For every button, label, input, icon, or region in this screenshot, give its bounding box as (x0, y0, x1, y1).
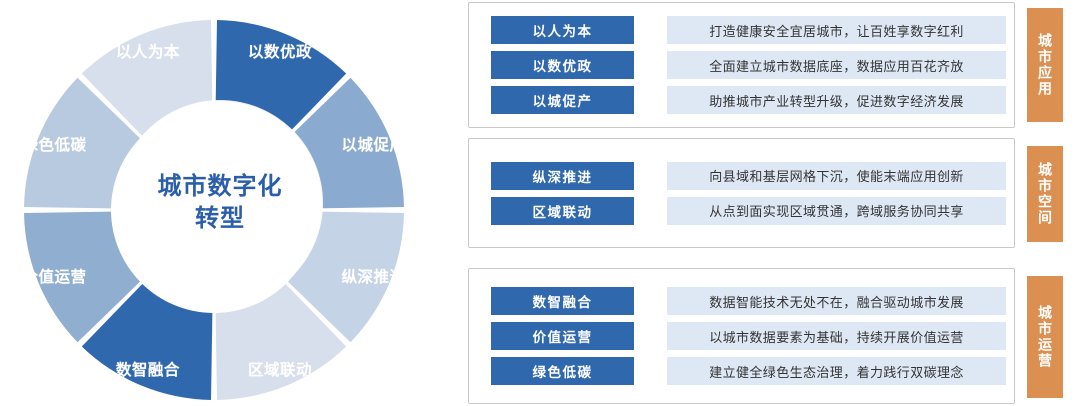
row-label-chip[interactable]: 以数优政 (491, 51, 634, 79)
panel-row-list: 数智融合数据智能技术无处不在，融合驱动城市发展价值运营以城市数据要素为基础，持续… (491, 269, 1006, 403)
donut-segment-label: 纵深推进 (341, 265, 405, 287)
row-label-chip[interactable]: 区域联动 (491, 197, 634, 225)
row-label-chip[interactable]: 价值运营 (491, 322, 634, 350)
row-label-chip[interactable]: 以城促产 (491, 86, 634, 114)
row-description: 数据智能技术无处不在，融合驱动城市发展 (667, 287, 1006, 315)
panel-category-tab[interactable]: 城市空间 (1027, 146, 1063, 242)
slide-root: 以数优政以城促产纵深推进区域联动数智融合价值运营绿色低碳以人为本 城市数字化 转… (0, 0, 1080, 406)
donut-segment-label: 绿色低碳 (23, 133, 87, 155)
row-description: 从点到面实现区域贯通，跨域服务协同共享 (667, 197, 1006, 225)
row-description: 向县域和基层网格下沉，使能末端应用创新 (667, 162, 1006, 190)
donut-segment-label: 以人为本 (116, 40, 180, 62)
panel-row: 区域联动从点到面实现区域贯通，跨域服务协同共享 (491, 197, 1006, 225)
panel-row: 以城促产助推城市产业转型升级，促进数字经济发展 (491, 86, 1006, 114)
row-label-chip[interactable]: 绿色低碳 (491, 357, 634, 385)
panel-row: 绿色低碳建立健全绿色生态治理，着力践行双碳理念 (491, 357, 1006, 385)
panel-row: 价值运营以城市数据要素为基础，持续开展价值运营 (491, 322, 1006, 350)
row-description: 建立健全绿色生态治理，着力践行双碳理念 (667, 357, 1006, 385)
row-description: 打造健康安全宜居城市，让百姓享数字红利 (667, 16, 1006, 44)
donut-segment-label: 区域联动 (248, 358, 312, 380)
row-description: 全面建立城市数据底座，数据应用百花齐放 (667, 51, 1006, 79)
panel-row: 以人为本打造健康安全宜居城市，让百姓享数字红利 (491, 16, 1006, 44)
row-label-chip[interactable]: 纵深推进 (491, 162, 634, 190)
detail-panels: 以人为本打造健康安全宜居城市，让百姓享数字红利以数优政全面建立城市数据底座，数据… (468, 0, 1080, 406)
panel-category-tab[interactable]: 城市应用 (1027, 8, 1063, 122)
panel-row: 纵深推进向县域和基层网格下沉，使能末端应用创新 (491, 162, 1006, 190)
transformation-wheel: 以数优政以城促产纵深推进区域联动数智融合价值运营绿色低碳以人为本 城市数字化 转… (0, 0, 440, 406)
row-description: 助推城市产业转型升级，促进数字经济发展 (667, 86, 1006, 114)
wheel-center-title-line2: 转型 (195, 203, 245, 235)
panel-row: 以数优政全面建立城市数据底座，数据应用百花齐放 (491, 51, 1006, 79)
row-label-chip[interactable]: 数智融合 (491, 287, 634, 315)
detail-panel: 数智融合数据智能技术无处不在，融合驱动城市发展价值运营以城市数据要素为基础，持续… (468, 268, 1015, 404)
panel-row: 数智融合数据智能技术无处不在，融合驱动城市发展 (491, 287, 1006, 315)
donut-segment-label: 数智融合 (116, 358, 180, 380)
detail-panel: 纵深推进向县域和基层网格下沉，使能末端应用创新区域联动从点到面实现区域贯通，跨域… (468, 138, 1015, 248)
detail-panel: 以人为本打造健康安全宜居城市，让百姓享数字红利以数优政全面建立城市数据底座，数据… (468, 2, 1015, 128)
donut-segment-label: 价值运营 (23, 265, 87, 287)
wheel-center-hub: 城市数字化 转型 (118, 101, 322, 305)
row-label-chip[interactable]: 以人为本 (491, 16, 634, 44)
panel-row-list: 以人为本打造健康安全宜居城市，让百姓享数字红利以数优政全面建立城市数据底座，数据… (491, 3, 1006, 127)
donut-segment-label: 以数优政 (248, 40, 312, 62)
wheel-center-title-line1: 城市数字化 (158, 171, 283, 203)
panel-row-list: 纵深推进向县域和基层网格下沉，使能末端应用创新区域联动从点到面实现区域贯通，跨域… (491, 139, 1006, 247)
panel-category-tab[interactable]: 城市运营 (1027, 276, 1063, 398)
donut-segment-label: 以城促产 (341, 133, 405, 155)
row-description: 以城市数据要素为基础，持续开展价值运营 (667, 322, 1006, 350)
